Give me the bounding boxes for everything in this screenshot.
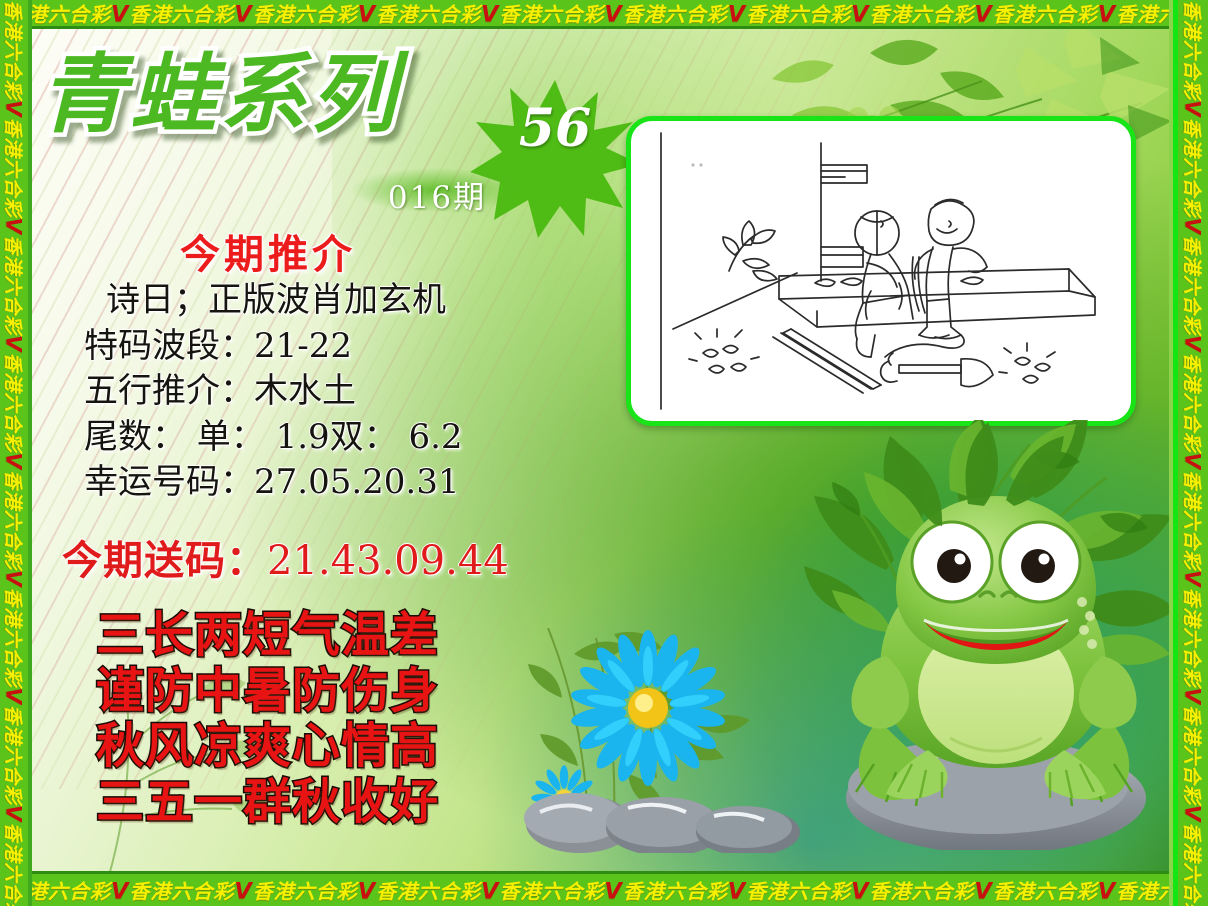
- stone-group: [524, 793, 800, 853]
- border-text-run: 香港六合彩V香港六合彩V香港六合彩V香港六合彩V香港六合彩V香港六合彩V香港六合…: [6, 876, 1208, 905]
- info-row: 五行推介：木水土: [84, 369, 604, 415]
- series-number: 56: [500, 98, 610, 159]
- info-row: 幸运号码：27.05.20.31: [84, 460, 604, 506]
- recommendation-heading: 今期推介: [180, 222, 356, 280]
- right-rail-bright: [1173, 0, 1178, 906]
- info-row: 特码波段：21-22: [84, 324, 604, 370]
- info-row: 诗日；正版波肖加玄机: [84, 278, 604, 324]
- left-rail: [28, 0, 32, 906]
- issue-number: 016期: [352, 172, 522, 217]
- send-code-numbers: 21.43.09.44: [267, 538, 509, 584]
- info-row: 尾数： 单： 1.9双： 6.2: [84, 415, 604, 461]
- poem-line: 三长两短气温差: [96, 608, 439, 664]
- border-band-left: 香港六合彩V香港六合彩V香港六合彩V香港六合彩V香港六合彩V香港六合彩V香港六合…: [0, 0, 28, 906]
- blue-flower-decoration: [518, 628, 838, 853]
- right-rail-soft: [1169, 0, 1173, 906]
- border-text-run: 香港六合彩V香港六合彩V香港六合彩V香港六合彩V香港六合彩V香港六合彩V香港六合…: [1180, 0, 1207, 906]
- frog-mascot: [800, 420, 1180, 850]
- border-text-run: 香港六合彩V香港六合彩V香港六合彩V香港六合彩V香港六合彩V香港六合彩V香港六合…: [1, 0, 28, 906]
- inner-bottom-rule: [28, 871, 1178, 874]
- border-text-run: 香港六合彩V香港六合彩V香港六合彩V香港六合彩V香港六合彩V香港六合彩V香港六合…: [6, 0, 1208, 26]
- page-title: 青蛙系列: [40, 52, 400, 138]
- poem-block: 三长两短气温差 谨防中暑防伤身 秋风凉爽心情高 三五一群秋收好: [96, 608, 439, 831]
- send-code-label: 今期送码：: [62, 537, 267, 584]
- recommendation-list: 诗日；正版波肖加玄机 特码波段：21-22 五行推介：木水土 尾数： 单： 1.…: [84, 278, 604, 506]
- poster: 青蛙系列 56 016期 今期推介 诗日；正版波肖加玄机 特码波段：21-22 …: [0, 0, 1208, 906]
- border-band-right: 香港六合彩V香港六合彩V香港六合彩V香港六合彩V香港六合彩V香港六合彩V香港六合…: [1178, 0, 1208, 906]
- border-band-top: 香港六合彩V香港六合彩V香港六合彩V香港六合彩V香港六合彩V香港六合彩V香港六合…: [0, 0, 1208, 26]
- illustration-panel: [626, 116, 1136, 426]
- send-code-row: 今期送码：21.43.09.44: [62, 528, 509, 586]
- line-art-illustration: [631, 121, 1131, 421]
- poem-line: 三五一群秋收好: [96, 775, 439, 831]
- poem-line: 秋风凉爽心情高: [96, 719, 439, 775]
- border-band-bottom: 香港六合彩V香港六合彩V香港六合彩V香港六合彩V香港六合彩V香港六合彩V香港六合…: [0, 874, 1208, 906]
- inner-top-rule: [28, 26, 1178, 29]
- poem-line: 谨防中暑防伤身: [96, 664, 439, 720]
